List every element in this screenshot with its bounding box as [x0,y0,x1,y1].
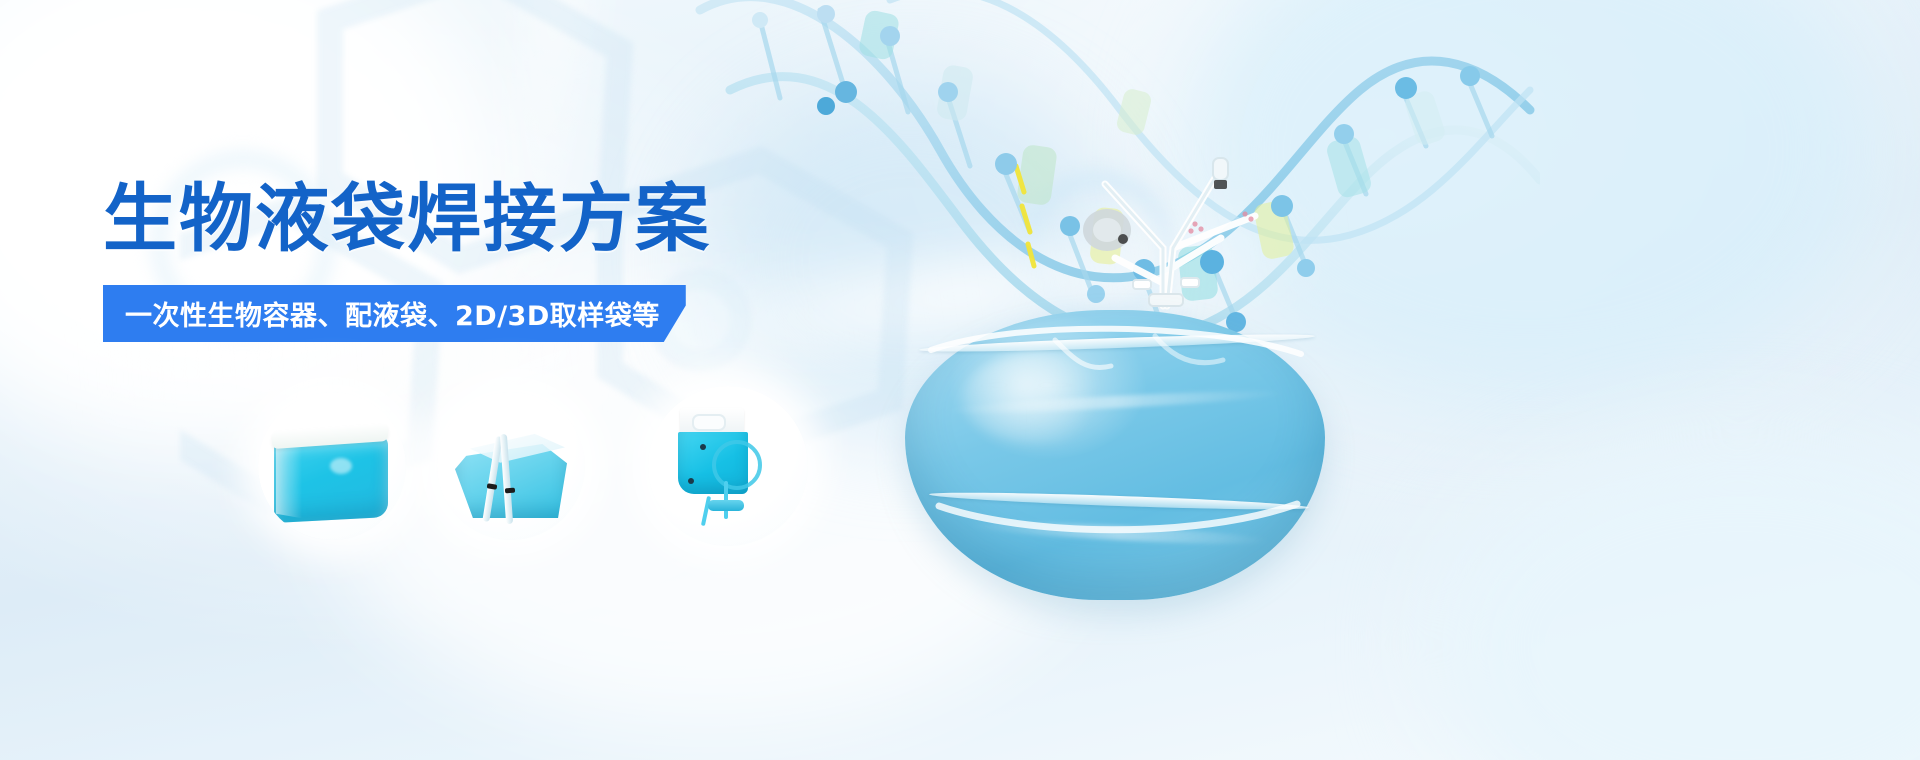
subtitle-text: 一次性生物容器、配液袋、2D/3D取样袋等 [125,294,660,333]
background-blur-blob [1430,430,1920,760]
tube-port-icon [688,478,694,484]
product-circle-1[interactable] [258,392,406,540]
page-title: 生物液袋焊接方案 [103,182,711,256]
sampling-bag-connector [708,500,744,511]
pillow-bag-highlight [330,458,352,474]
subtitle-ribbon: 一次性生物容器、配液袋、2D/3D取样袋等 [103,285,686,342]
product-circle-2[interactable] [437,392,585,540]
pillow-bag-fold [276,442,302,519]
tube-port-icon [700,444,706,450]
bag-fold-lines [905,300,1325,600]
sampling-bag-hanger-hole [692,414,726,431]
sampling-bag-tube-loop [712,440,762,490]
bioprocess-bag-graphic [905,300,1325,600]
hero-banner: 生物液袋焊接方案 一次性生物容器、配液袋、2D/3D取样袋等 [0,0,1920,760]
product-circle-3[interactable] [648,386,808,546]
tube-clamp-icon [505,488,515,494]
tube-manifold-icon [1045,98,1285,318]
